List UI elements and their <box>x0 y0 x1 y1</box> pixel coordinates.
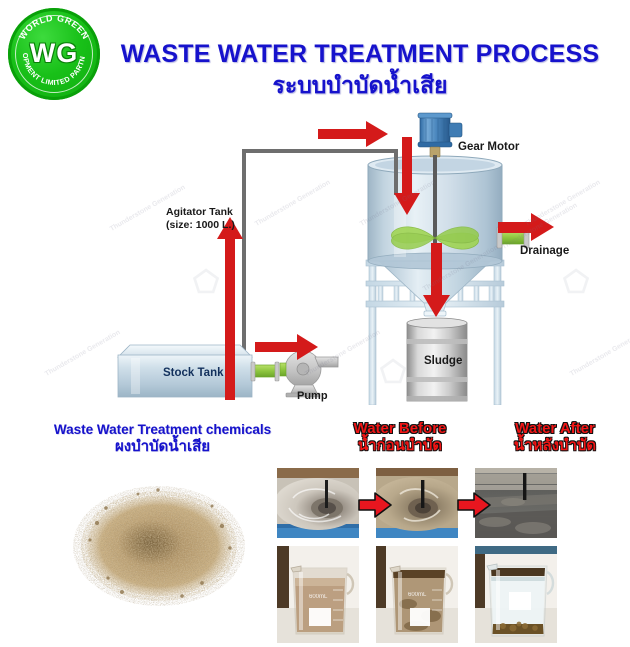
drainage-label: Drainage <box>520 245 569 258</box>
beaker-after-illustration <box>475 546 557 643</box>
gear-motor-label: Gear Motor <box>458 141 519 154</box>
chemicals-caption-th: ผงบำบัดน้ำเสีย <box>20 438 305 455</box>
water-before-caption-en: Water Before <box>320 420 480 437</box>
photo-beaker-mid: 600mL <box>376 546 458 643</box>
photo-before-tank-illustration <box>277 468 359 538</box>
chemical-powder-photo <box>62 468 257 618</box>
stock-tank-label: Stock Tank <box>163 367 224 380</box>
agitator-tank-label-line2: (size: 1000 L.) <box>166 219 235 231</box>
red-arrow-icon <box>456 490 492 520</box>
company-logo: WORLD GREEN DEVELOPMENT LIMITED PARTNERS… <box>8 8 100 100</box>
water-after-caption-en: Water After <box>480 420 630 437</box>
agitator-tank-label: Agitator Tank (size: 1000 L.) <box>166 206 235 232</box>
poster-root: WORLD GREEN DEVELOPMENT LIMITED PARTNERS… <box>0 0 630 647</box>
page-subtitle-thai: ระบบบำบัดน้ำเสีย <box>110 68 610 104</box>
page-title: WASTE WATER TREATMENT PROCESS <box>110 40 610 69</box>
chemicals-caption-en: Waste Water Treatment chemicals <box>20 421 305 438</box>
red-arrow-icon <box>357 490 393 520</box>
stock-outlet-valve <box>251 362 279 381</box>
photo-beaker-before: 600mL <box>277 546 359 643</box>
beaker-mid-illustration: 600mL <box>376 546 458 643</box>
logo-monogram: WG <box>8 38 100 69</box>
agitator-tank-label-line1: Agitator Tank <box>166 206 233 218</box>
arrow-right-top <box>318 121 388 147</box>
logo-top-arc-text: WORLD GREEN <box>17 13 91 41</box>
water-after-caption-th: น้ำหลังบำบัด <box>480 437 630 454</box>
svg-text:600mL: 600mL <box>309 594 328 600</box>
photo-before-tank <box>277 468 359 538</box>
svg-text:600mL: 600mL <box>408 592 427 598</box>
water-before-caption: Water Before น้ำก่อนบำบัด <box>320 420 480 454</box>
sludge-label: Sludge <box>424 355 462 368</box>
chemicals-caption: Waste Water Treatment chemicals ผงบำบัดน… <box>20 421 305 455</box>
water-after-caption: Water After น้ำหลังบำบัด <box>480 420 630 454</box>
water-before-caption-th: น้ำก่อนบำบัด <box>320 437 480 454</box>
arrow-before-to-mid <box>357 490 393 520</box>
photo-beaker-after <box>475 546 557 643</box>
chemical-powder-illustration <box>62 468 257 618</box>
arrow-mid-to-after <box>456 490 492 520</box>
beaker-before-illustration: 600mL <box>277 546 359 643</box>
pump-label: Pump <box>297 390 328 403</box>
